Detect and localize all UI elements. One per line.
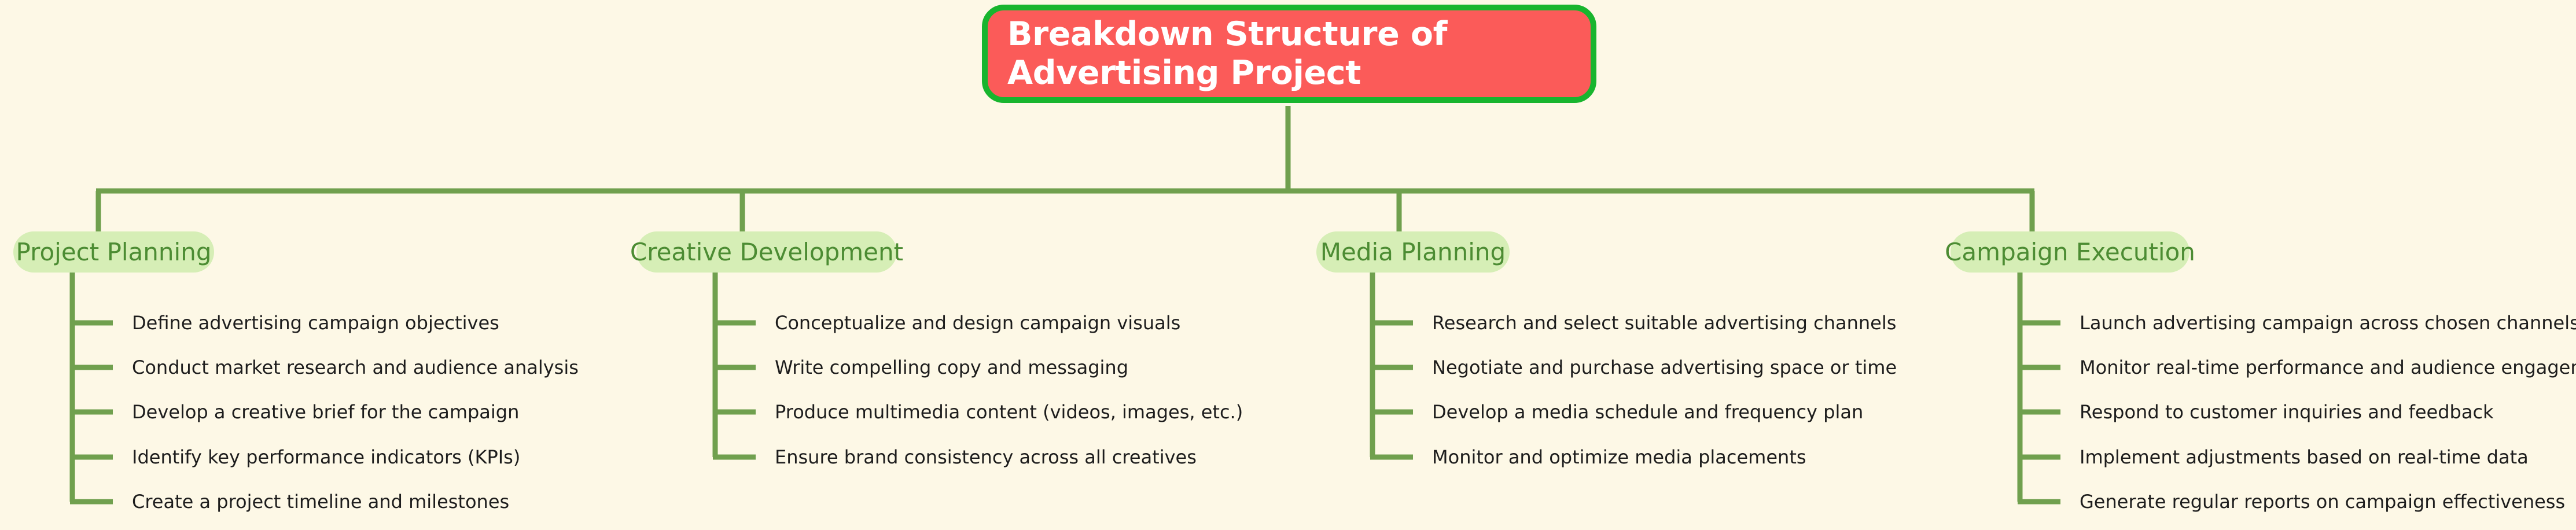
root-node[interactable]: Breakdown Structure of Advertising Proje… [982, 5, 1596, 103]
branch-node-label: Campaign Execution [1945, 240, 2195, 264]
leaf-node[interactable]: Develop a creative brief for the campaig… [132, 403, 519, 421]
branch-node-label: Creative Development [630, 240, 903, 264]
leaf-node[interactable]: Monitor and optimize media placements [1432, 448, 1806, 466]
branch-node-campaign-execution[interactable]: Campaign Execution [1951, 231, 2189, 273]
leaf-node[interactable]: Implement adjustments based on real-time… [2080, 448, 2529, 466]
branch-node-project-planning[interactable]: Project Planning [13, 231, 214, 273]
leaf-node[interactable]: Identify key performance indicators (KPI… [132, 448, 520, 466]
branch-node-label: Project Planning [16, 240, 212, 264]
leaf-node[interactable]: Generate regular reports on campaign eff… [2080, 492, 2565, 511]
branch-node-label: Media Planning [1320, 240, 1506, 264]
leaf-node[interactable]: Create a project timeline and milestones [132, 492, 509, 511]
mindmap-canvas: Breakdown Structure of Advertising Proje… [0, 0, 2576, 530]
leaf-node[interactable]: Conceptualize and design campaign visual… [775, 314, 1180, 332]
leaf-node[interactable]: Develop a media schedule and frequency p… [1432, 403, 1863, 421]
branch-node-creative-development[interactable]: Creative Development [636, 231, 897, 273]
leaf-node[interactable]: Produce multimedia content (videos, imag… [775, 403, 1243, 421]
leaf-node[interactable]: Negotiate and purchase advertising space… [1432, 358, 1897, 377]
leaf-node[interactable]: Monitor real-time performance and audien… [2080, 358, 2576, 377]
leaf-node[interactable]: Conduct market research and audience ana… [132, 358, 579, 377]
branch-node-media-planning[interactable]: Media Planning [1316, 231, 1510, 273]
leaf-node[interactable]: Ensure brand consistency across all crea… [775, 448, 1197, 466]
leaf-node[interactable]: Define advertising campaign objectives [132, 314, 499, 332]
leaf-node[interactable]: Research and select suitable advertising… [1432, 314, 1896, 332]
leaf-node[interactable]: Write compelling copy and messaging [775, 358, 1128, 377]
leaf-node[interactable]: Launch advertising campaign across chose… [2080, 314, 2576, 332]
leaf-node[interactable]: Respond to customer inquiries and feedba… [2080, 403, 2494, 421]
root-node-title: Breakdown Structure of Advertising Proje… [1007, 15, 1571, 93]
